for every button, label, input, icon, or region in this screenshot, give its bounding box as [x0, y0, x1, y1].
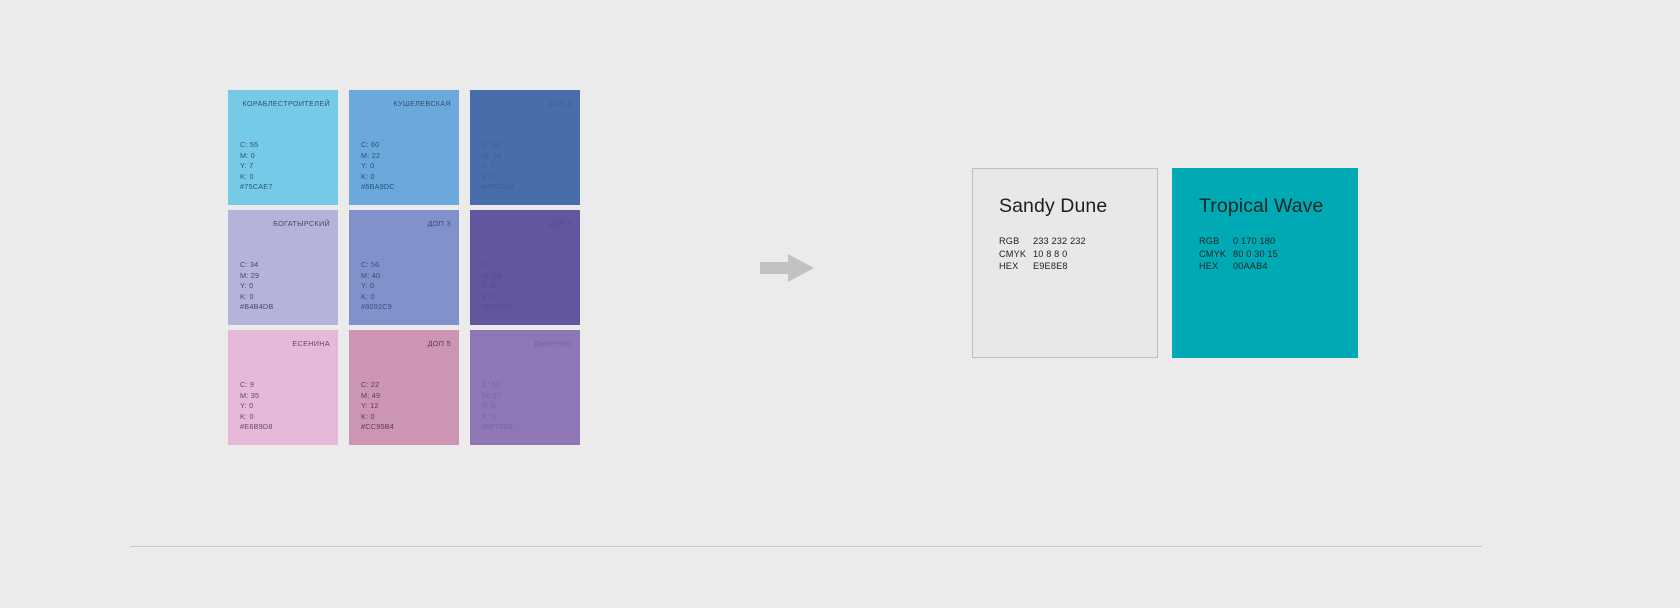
cmyk-row: CMYK10 8 8 0 [999, 248, 1157, 261]
swatch-name: КУШЕЛЕВСКАЯ [357, 99, 451, 108]
color-swatch[interactable]: ДОП 5 C: 22 M: 49 Y: 12 K: 0 #CC95B4 [349, 330, 459, 445]
swatch-values: C: 9 M: 35 Y: 0 K: 0 #E6B9D8 [240, 380, 273, 433]
rgb-label: RGB [1199, 235, 1233, 248]
swatch-values: C: 52 M: 57 Y: 0 K: 0 #8F77B5 [482, 380, 513, 433]
cyan-value: C: 55 [240, 140, 273, 151]
swatch-name: ЕСЕНИНА [236, 339, 330, 348]
magenta-value: M: 40 [361, 271, 392, 282]
cyan-value: C: 34 [240, 260, 273, 271]
color-swatch[interactable]: КУШЕЛЕВСКАЯ C: 60 M: 22 Y: 0 K: 0 #6BA9D… [349, 90, 459, 205]
cyan-value: C: 52 [482, 380, 513, 391]
swatch-values: C: 55 M: 0 Y: 7 K: 0 #75CAE7 [240, 140, 273, 193]
cyan-value: C: 56 [361, 260, 392, 271]
yellow-value: Y: 9 [482, 281, 513, 292]
cmyk-value: 10 8 8 0 [1033, 249, 1067, 259]
hex-value: #496DAB [482, 182, 515, 193]
yellow-value: Y: 0 [361, 161, 395, 172]
swatch-values: C: 34 M: 29 Y: 0 K: 0 #B4B4DB [240, 260, 273, 313]
cyan-value: C: 71 [482, 260, 513, 271]
swatch-values: C: 80 M: 54 Y: 7 K: 0 #496DAB [482, 140, 515, 193]
yellow-value: Y: 0 [240, 401, 273, 412]
yellow-value: Y: 0 [240, 281, 273, 292]
cmyk-label: CMYK [1199, 248, 1233, 261]
color-swatch[interactable]: ДЫБЕНКО C: 52 M: 57 Y: 0 K: 0 #8F77B5 [470, 330, 580, 445]
hex-value: #8092C9 [361, 302, 392, 313]
color-swatch[interactable]: ДОП 2 C: 80 M: 54 Y: 7 K: 0 #496DAB [470, 90, 580, 205]
arrow-right-icon [760, 252, 815, 284]
color-card-specs: RGB0 170 180 CMYK80 0 30 15 HEX00AAB4 [1199, 235, 1357, 273]
yellow-value: Y: 7 [482, 161, 515, 172]
key-value: K: 0 [482, 292, 513, 303]
hex-value: #CC95B4 [361, 422, 394, 433]
rgb-value: 0 170 180 [1233, 236, 1275, 246]
bottom-divider [130, 546, 1482, 547]
swatch-values: C: 22 M: 49 Y: 12 K: 0 #CC95B4 [361, 380, 394, 433]
key-value: K: 0 [482, 412, 513, 423]
hex-value: #63569E [482, 302, 513, 313]
magenta-value: M: 35 [240, 391, 273, 402]
hex-value: #8F77B5 [482, 422, 513, 433]
key-value: K: 0 [240, 292, 273, 303]
magenta-value: M: 54 [482, 151, 515, 162]
swatch-name: ДОП 3 [357, 219, 451, 228]
magenta-value: M: 66 [482, 271, 513, 282]
hex-value: #75CAE7 [240, 182, 273, 193]
yellow-value: Y: 12 [361, 401, 394, 412]
key-value: K: 0 [240, 412, 273, 423]
key-value: K: 0 [361, 292, 392, 303]
color-card-title: Sandy Dune [999, 195, 1157, 217]
cmyk-row: CMYK80 0 30 15 [1199, 248, 1357, 261]
color-card-specs: RGB233 232 232 CMYK10 8 8 0 HEXE9E8E8 [999, 235, 1157, 273]
rgb-row: RGB233 232 232 [999, 235, 1157, 248]
cmyk-value: 80 0 30 15 [1233, 249, 1278, 259]
key-value: K: 0 [482, 172, 515, 183]
hex-value: #6BA9DC [361, 182, 395, 193]
color-card[interactable]: Tropical Wave RGB0 170 180 CMYK80 0 30 1… [1172, 168, 1358, 358]
cyan-value: C: 60 [361, 140, 395, 151]
swatch-name: ДОП 2 [478, 99, 572, 108]
color-swatch[interactable]: КОРАБЛЕСТРОИТЕЛЕЙ C: 55 M: 0 Y: 7 K: 0 #… [228, 90, 338, 205]
color-swatch[interactable]: ЕСЕНИНА C: 9 M: 35 Y: 0 K: 0 #E6B9D8 [228, 330, 338, 445]
swatch-name: БОГАТЫРСКИЙ [236, 219, 330, 228]
magenta-value: M: 0 [240, 151, 273, 162]
hex-label: HEX [999, 260, 1033, 273]
magenta-value: M: 22 [361, 151, 395, 162]
color-card-title: Tropical Wave [1199, 195, 1357, 217]
cyan-value: C: 80 [482, 140, 515, 151]
hex-row: HEX00AAB4 [1199, 260, 1357, 273]
rgb-value: 233 232 232 [1033, 236, 1086, 246]
color-swatch[interactable]: БОГАТЫРСКИЙ C: 34 M: 29 Y: 0 K: 0 #B4B4D… [228, 210, 338, 325]
swatch-name: КОРАБЛЕСТРОИТЕЛЕЙ [236, 99, 330, 108]
cyan-value: C: 22 [361, 380, 394, 391]
swatch-values: C: 71 M: 66 Y: 9 K: 0 #63569E [482, 260, 513, 313]
color-card-list: Sandy Dune RGB233 232 232 CMYK10 8 8 0 H… [972, 168, 1358, 358]
yellow-value: Y: 0 [482, 401, 513, 412]
swatch-values: C: 60 M: 22 Y: 0 K: 0 #6BA9DC [361, 140, 395, 193]
hex-label: HEX [1199, 260, 1233, 273]
yellow-value: Y: 0 [361, 281, 392, 292]
cmyk-label: CMYK [999, 248, 1033, 261]
swatch-name: ДЫБЕНКО [478, 339, 572, 348]
cyan-value: C: 9 [240, 380, 273, 391]
color-swatch[interactable]: ДОП 4 C: 71 M: 66 Y: 9 K: 0 #63569E [470, 210, 580, 325]
hex-value: 00AAB4 [1233, 261, 1268, 271]
rgb-label: RGB [999, 235, 1033, 248]
hex-value: E9E8E8 [1033, 261, 1068, 271]
yellow-value: Y: 7 [240, 161, 273, 172]
color-card[interactable]: Sandy Dune RGB233 232 232 CMYK10 8 8 0 H… [972, 168, 1158, 358]
hex-value: #B4B4DB [240, 302, 273, 313]
key-value: K: 0 [361, 412, 394, 423]
hex-row: HEXE9E8E8 [999, 260, 1157, 273]
swatch-name: ДОП 5 [357, 339, 451, 348]
swatch-values: C: 56 M: 40 Y: 0 K: 0 #8092C9 [361, 260, 392, 313]
rgb-row: RGB0 170 180 [1199, 235, 1357, 248]
palette-grid: КОРАБЛЕСТРОИТЕЛЕЙ C: 55 M: 0 Y: 7 K: 0 #… [228, 90, 580, 445]
color-swatch[interactable]: ДОП 3 C: 56 M: 40 Y: 0 K: 0 #8092C9 [349, 210, 459, 325]
hex-value: #E6B9D8 [240, 422, 273, 433]
magenta-value: M: 49 [361, 391, 394, 402]
magenta-value: M: 29 [240, 271, 273, 282]
magenta-value: M: 57 [482, 391, 513, 402]
key-value: K: 0 [361, 172, 395, 183]
swatch-name: ДОП 4 [478, 219, 572, 228]
key-value: K: 0 [240, 172, 273, 183]
